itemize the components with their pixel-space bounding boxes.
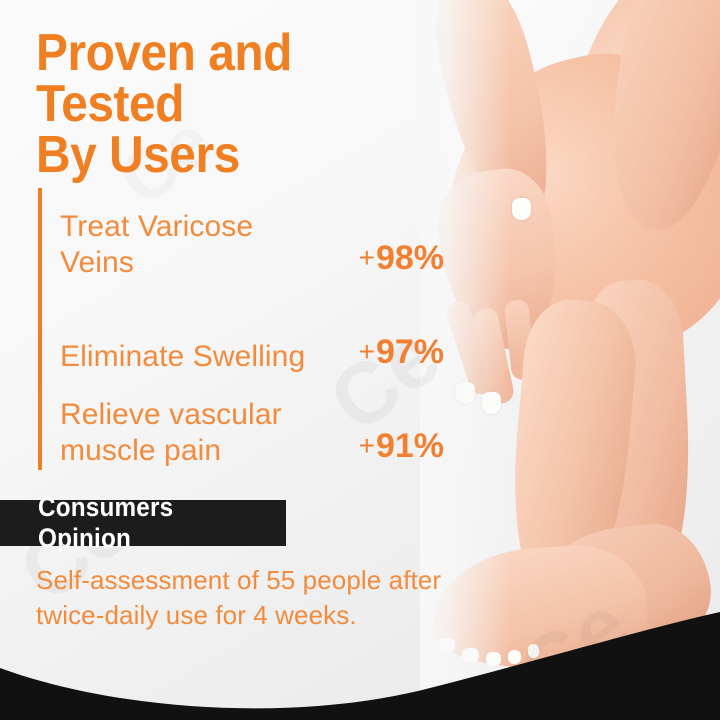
benefits-list: Treat Varicose Veins +98% Eliminate Swel… [38, 186, 448, 468]
benefit-label: Eliminate Swelling [60, 339, 305, 374]
list-item: Eliminate Swelling +97% [60, 280, 450, 374]
consumers-opinion-label: Consumers Opinion [38, 492, 261, 554]
benefit-percent: 98% [376, 239, 444, 277]
fingernail-shape [482, 392, 501, 414]
benefit-label: Treat Varicose Veins [60, 209, 325, 280]
benefit-percent: 97% [376, 333, 444, 371]
fingernail-shape [456, 382, 475, 404]
benefit-value: +97% [359, 333, 444, 374]
promo-poster: Ce Ce Ce Ce Proven and Tested By Users T… [0, 0, 720, 720]
headline-line-1: Proven and Tested [36, 24, 292, 133]
headline-line-2: By Users [36, 130, 422, 181]
wave-shape [0, 610, 720, 720]
bottom-wave-decoration [0, 610, 720, 720]
plus-sign: + [359, 336, 375, 367]
benefit-percent: 91% [376, 427, 444, 465]
fingernail-shape [512, 198, 531, 220]
benefit-label: Relieve vascular muscle pain [60, 397, 325, 468]
plus-sign: + [359, 242, 375, 273]
list-item: Relieve vascular muscle pain +91% [60, 374, 450, 468]
consumers-opinion-banner: Consumers Opinion [0, 500, 286, 546]
benefit-value: +98% [359, 239, 444, 280]
benefit-value: +91% [359, 427, 444, 468]
vertical-rule [38, 188, 42, 470]
list-item: Treat Varicose Veins +98% [60, 186, 450, 280]
plus-sign: + [359, 430, 375, 461]
page-title: Proven and Tested By Users [36, 28, 422, 181]
